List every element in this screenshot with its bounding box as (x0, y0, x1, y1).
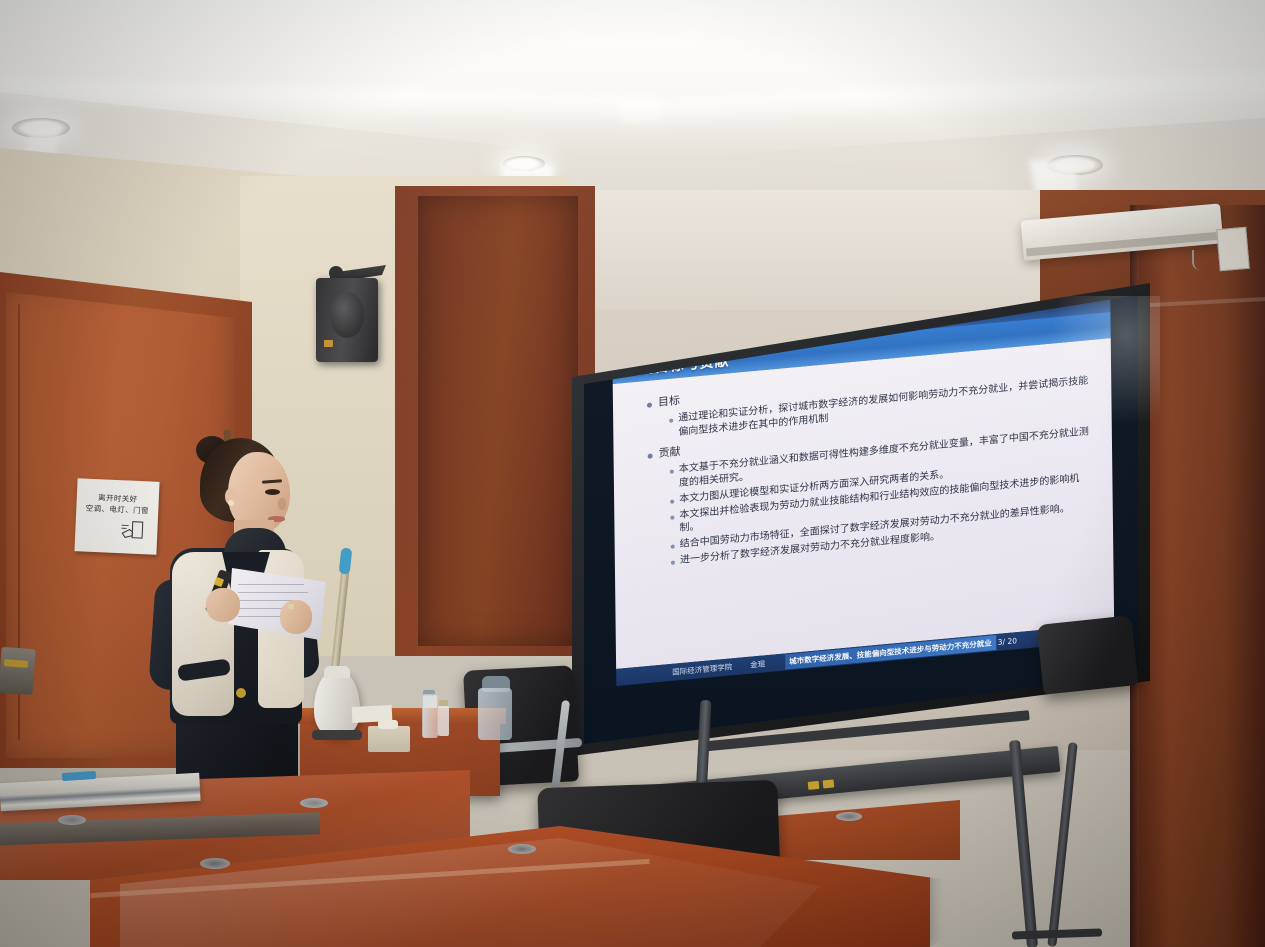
cable-grommet (836, 812, 862, 821)
bullet-icon (669, 418, 673, 422)
cable-grommet (200, 858, 230, 869)
bullet-icon (647, 402, 652, 407)
tv-stand-leg-right-rear (1047, 742, 1077, 947)
speaker-badge (324, 340, 333, 347)
wall-control-box[interactable] (1216, 227, 1250, 271)
cable-grommet (300, 798, 328, 808)
bullet-icon (671, 561, 675, 565)
earring (228, 500, 234, 506)
footer-page-number: 3/ 20 (998, 636, 1017, 647)
cable-grommet (58, 815, 86, 825)
ring (288, 604, 294, 609)
bullet-icon (670, 515, 674, 519)
vest-button (236, 688, 246, 698)
eye (265, 489, 280, 495)
port-icon (808, 781, 820, 790)
right-hand (280, 600, 312, 634)
wood-panel-right (1130, 205, 1265, 947)
nose (278, 498, 286, 510)
wood-panel-middle-inner (418, 196, 578, 646)
meeting-room-photo: 离开时关好 空调、电灯、门窗 引言 ○○ 研究设计 ○○ 实证结果分析 (0, 0, 1265, 947)
water-bottle-icon[interactable] (422, 694, 438, 738)
cable-grommet (508, 844, 536, 854)
footer-author: 金琨 (750, 658, 765, 670)
bullet-icon (671, 545, 675, 549)
sign-line-1: 离开时关好 (98, 493, 138, 504)
bullet-icon (648, 454, 653, 459)
cable (1192, 250, 1210, 270)
thermos-icon[interactable] (478, 688, 512, 740)
port-icon (823, 779, 835, 788)
speaker-cone (330, 292, 364, 338)
tissue-box-icon[interactable] (368, 726, 410, 752)
water-bottle-icon[interactable] (438, 706, 449, 736)
bullet-icon (670, 499, 674, 503)
tv-stand-base (1012, 928, 1102, 939)
office-chair[interactable] (1037, 615, 1139, 695)
left-hand (206, 588, 240, 622)
slide-body: 目标 通过理论和实证分析，探讨城市数字经济的发展如何影响劳动力不充分就业，并尝试… (613, 338, 1114, 669)
footer-institution: 国际经济管理学院 (672, 661, 732, 678)
door-handle[interactable] (0, 647, 36, 695)
tissue-sheet (378, 720, 398, 729)
bullet-icon (670, 470, 674, 474)
